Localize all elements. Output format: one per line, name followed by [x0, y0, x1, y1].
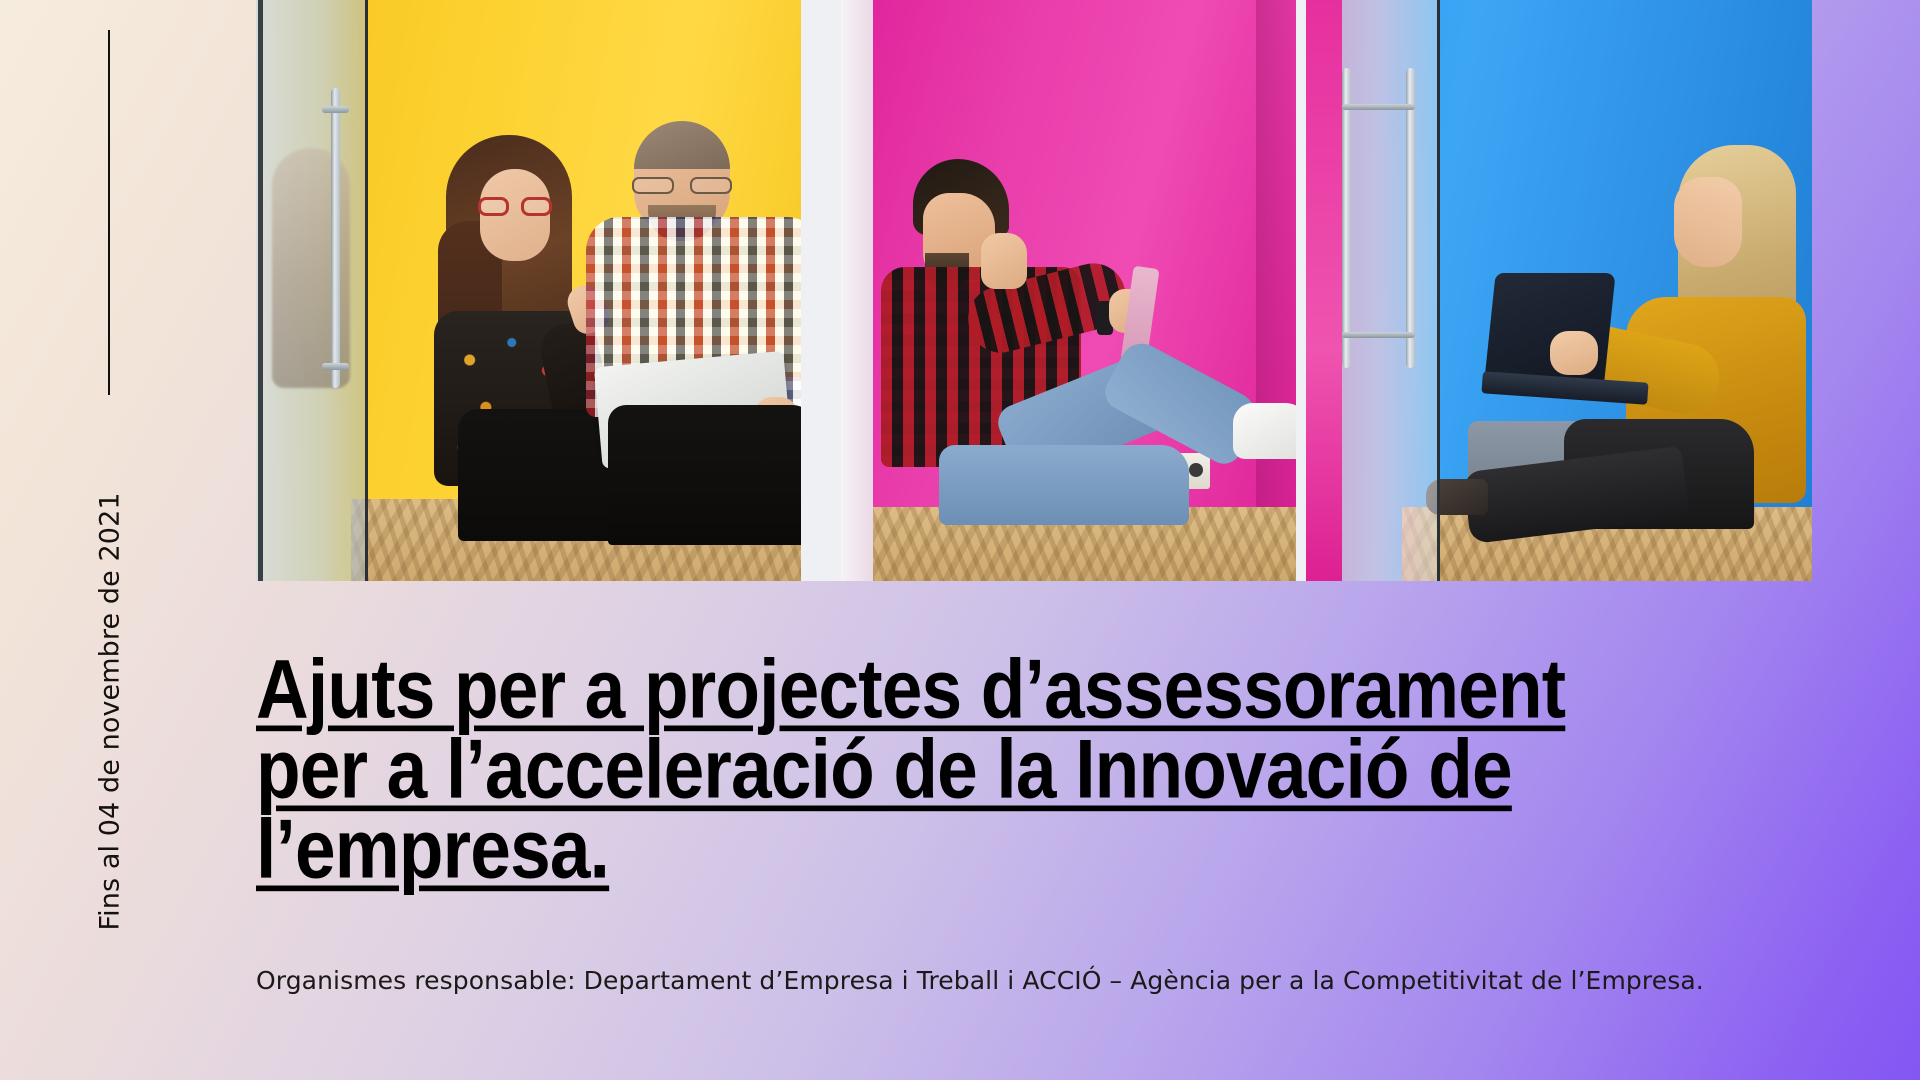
eyeglasses-icon — [632, 177, 732, 194]
person-woman-with-laptop — [1476, 145, 1806, 525]
legs — [608, 405, 801, 545]
deadline-vertical-text: Fins al 04 de novembre de 2021 — [95, 0, 126, 931]
responsible-bodies-text: Organismes responsable: Departament d’Em… — [256, 966, 1704, 995]
hero-photo-strip — [256, 0, 1812, 581]
photo-panel-gap — [1296, 0, 1306, 581]
page-title: Ajuts per a projectes d’assessorament pe… — [256, 640, 1876, 880]
hand — [981, 233, 1027, 289]
photo-panel-gap — [801, 0, 841, 581]
person-man-with-laptop — [586, 121, 801, 541]
sneaker — [1233, 403, 1296, 459]
face — [1674, 177, 1742, 267]
promo-poster: Fins al 04 de novembre de 2021 — [0, 0, 1920, 1080]
hand — [1550, 331, 1598, 375]
headline-line-3: l’empresa. — [256, 800, 1876, 900]
headline-line-3-text: l’empresa. — [256, 803, 609, 895]
glass-door — [1306, 0, 1440, 581]
photo-panel-blue-booth — [1306, 0, 1812, 581]
headline-row: per a l’acceleració de la Innovació de — [256, 720, 1876, 800]
door-handle — [1406, 68, 1415, 368]
photo-panel-pink-booth — [841, 0, 1296, 581]
headline-row: l’empresa. — [256, 800, 1876, 880]
hair — [634, 121, 730, 169]
door-handle — [1342, 68, 1351, 368]
door-handle — [331, 88, 340, 388]
door-handle-bracket — [1342, 104, 1415, 110]
eyeglasses-icon — [478, 197, 552, 216]
jeans-leg — [939, 445, 1189, 525]
person-man-with-tablet — [881, 159, 1281, 519]
white-wall-edge — [841, 0, 873, 581]
pink-wall-behind-door — [1306, 0, 1342, 581]
deadline-text: Fins al 04 de novembre de 2021 — [95, 0, 126, 931]
deadline-label-group: Fins al 04 de novembre de 2021 — [0, 0, 210, 1080]
door-handle-bracket — [1342, 332, 1415, 338]
glass-door — [256, 0, 368, 581]
headline-row: Ajuts per a projectes d’assessorament — [256, 640, 1876, 720]
photo-panel-yellow-booth — [256, 0, 801, 581]
